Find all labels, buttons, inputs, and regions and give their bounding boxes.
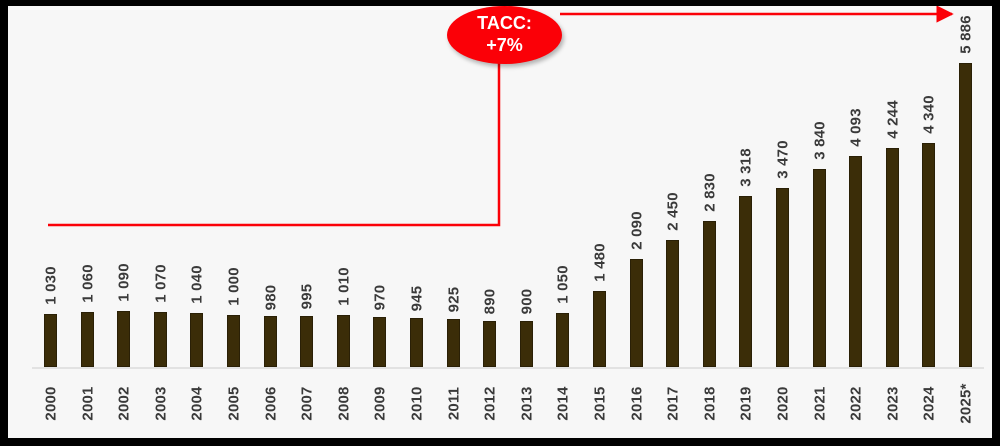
bar[interactable] <box>813 169 826 367</box>
bar[interactable] <box>849 156 862 367</box>
bar-value-label: 2 450 <box>665 193 682 232</box>
bar-category-label: 2019 <box>738 386 755 420</box>
bar-category-label: 2014 <box>555 386 572 420</box>
bar[interactable] <box>776 188 789 367</box>
bar-value-label: 1 030 <box>43 266 60 305</box>
bar-group[interactable]: 2 8302018 <box>691 6 729 438</box>
bar-value-label: 2 830 <box>701 173 718 212</box>
bar[interactable] <box>959 63 972 367</box>
bar-value-label: 1 090 <box>116 263 133 302</box>
bar[interactable] <box>630 259 643 367</box>
bar-group[interactable]: 9252011 <box>435 6 473 438</box>
bar-value-label: 4 244 <box>884 100 901 139</box>
bar-group[interactable]: 1 0702003 <box>142 6 180 438</box>
bar-category-label: 2004 <box>189 386 206 420</box>
bar-value-label: 995 <box>299 283 316 309</box>
bar[interactable] <box>337 315 350 367</box>
bar-value-label: 1 050 <box>555 265 572 304</box>
bar-category-label: 2000 <box>43 386 60 420</box>
bar[interactable] <box>154 312 167 367</box>
bar[interactable] <box>190 313 203 367</box>
bar-value-label: 890 <box>482 289 499 315</box>
bar-category-label: 2025* <box>958 383 975 423</box>
bar-group[interactable]: 1 0102008 <box>325 6 363 438</box>
bar[interactable] <box>666 240 679 367</box>
bar-group[interactable]: 1 0902002 <box>105 6 143 438</box>
bar-category-label: 2021 <box>811 386 828 420</box>
chart-frame: 1 03020001 06020011 09020021 07020031 04… <box>0 0 1000 446</box>
bar[interactable] <box>227 315 240 367</box>
bar-category-label: 2013 <box>518 386 535 420</box>
bar-group[interactable]: 9452010 <box>398 6 436 438</box>
bar-group[interactable]: 2 0902016 <box>618 6 656 438</box>
bar-value-label: 4 093 <box>848 108 865 147</box>
bar-group[interactable]: 9952007 <box>288 6 326 438</box>
bar-category-label: 2022 <box>848 386 865 420</box>
bar-category-label: 2016 <box>628 386 645 420</box>
bar-value-label: 1 040 <box>189 266 206 305</box>
bar-group[interactable]: 3 3182019 <box>727 6 765 438</box>
bar-group[interactable]: 4 2442023 <box>874 6 912 438</box>
bar-group[interactable]: 2 4502017 <box>654 6 692 438</box>
bar-category-label: 2003 <box>152 386 169 420</box>
bar[interactable] <box>556 313 569 367</box>
bar[interactable] <box>373 317 386 367</box>
bar[interactable] <box>410 318 423 367</box>
bar-value-label: 1 060 <box>79 264 96 303</box>
bar-group[interactable]: 4 0932022 <box>837 6 875 438</box>
bar-value-label: 970 <box>372 285 389 311</box>
bar-category-label: 2024 <box>921 386 938 420</box>
bar-value-label: 980 <box>262 284 279 310</box>
bar-value-label: 1 000 <box>226 268 243 307</box>
bar-value-label: 945 <box>409 286 426 312</box>
bar-group[interactable]: 9802006 <box>252 6 290 438</box>
bar-group[interactable]: 1 4802015 <box>581 6 619 438</box>
bar-category-label: 2010 <box>409 386 426 420</box>
bar-group[interactable]: 5 8862025* <box>947 6 985 438</box>
bar-category-label: 2018 <box>701 386 718 420</box>
bar-value-label: 900 <box>518 288 535 314</box>
bar-category-label: 2017 <box>665 386 682 420</box>
bar-group[interactable]: 9702009 <box>361 6 399 438</box>
bar-value-label: 4 340 <box>921 95 938 134</box>
bar-value-label: 2 090 <box>628 211 645 250</box>
bar-category-label: 2011 <box>445 387 462 420</box>
bar-group[interactable]: 8902012 <box>471 6 509 438</box>
bar-category-label: 2015 <box>592 386 609 420</box>
bar-value-label: 3 840 <box>811 121 828 160</box>
bar-category-label: 2012 <box>482 386 499 420</box>
bar-group[interactable]: 1 0302000 <box>32 6 70 438</box>
bar-category-label: 2020 <box>775 386 792 420</box>
bar-group[interactable]: 1 0402004 <box>178 6 216 438</box>
bar[interactable] <box>264 316 277 367</box>
bar[interactable] <box>300 316 313 367</box>
bar[interactable] <box>117 311 130 367</box>
bar[interactable] <box>739 196 752 367</box>
bar-category-label: 2008 <box>335 386 352 420</box>
bar[interactable] <box>483 321 496 367</box>
bar-group[interactable]: 1 0002005 <box>215 6 253 438</box>
bar-category-label: 2001 <box>79 386 96 420</box>
cagr-callout-badge: TACC: +7% <box>447 6 562 64</box>
bar[interactable] <box>922 143 935 367</box>
bar-category-label: 2006 <box>262 386 279 420</box>
bar-category-label: 2005 <box>226 386 243 420</box>
bar[interactable] <box>81 312 94 367</box>
bar-group[interactable]: 1 0602001 <box>69 6 107 438</box>
bar-category-label: 2007 <box>299 386 316 420</box>
bar-category-label: 2009 <box>372 386 389 420</box>
bar-value-label: 3 318 <box>738 148 755 187</box>
cagr-badge-line2: +7% <box>486 35 523 57</box>
bar-value-label: 3 470 <box>775 140 792 179</box>
bar[interactable] <box>44 314 57 367</box>
bar-value-label: 1 070 <box>152 264 169 303</box>
bar[interactable] <box>703 221 716 367</box>
bar-group[interactable]: 4 3402024 <box>910 6 948 438</box>
bar[interactable] <box>520 321 533 367</box>
bar-group[interactable]: 3 4702020 <box>764 6 802 438</box>
bar-value-label: 1 010 <box>335 267 352 306</box>
bar[interactable] <box>886 148 899 367</box>
bar-group[interactable]: 3 8402021 <box>801 6 839 438</box>
chart-plot-area: 1 03020001 06020011 09020021 07020031 04… <box>8 6 992 438</box>
bar-value-label: 1 480 <box>592 243 609 282</box>
bar-value-label: 5 886 <box>958 15 975 54</box>
bar-group[interactable]: 1 0502014 <box>544 6 582 438</box>
bar-group[interactable]: 9002013 <box>508 6 546 438</box>
bar[interactable] <box>447 319 460 367</box>
bar-category-label: 2002 <box>116 386 133 420</box>
bar[interactable] <box>593 291 606 367</box>
bar-value-label: 925 <box>445 287 462 313</box>
cagr-badge-line1: TACC: <box>477 13 532 35</box>
bar-category-label: 2023 <box>884 386 901 420</box>
